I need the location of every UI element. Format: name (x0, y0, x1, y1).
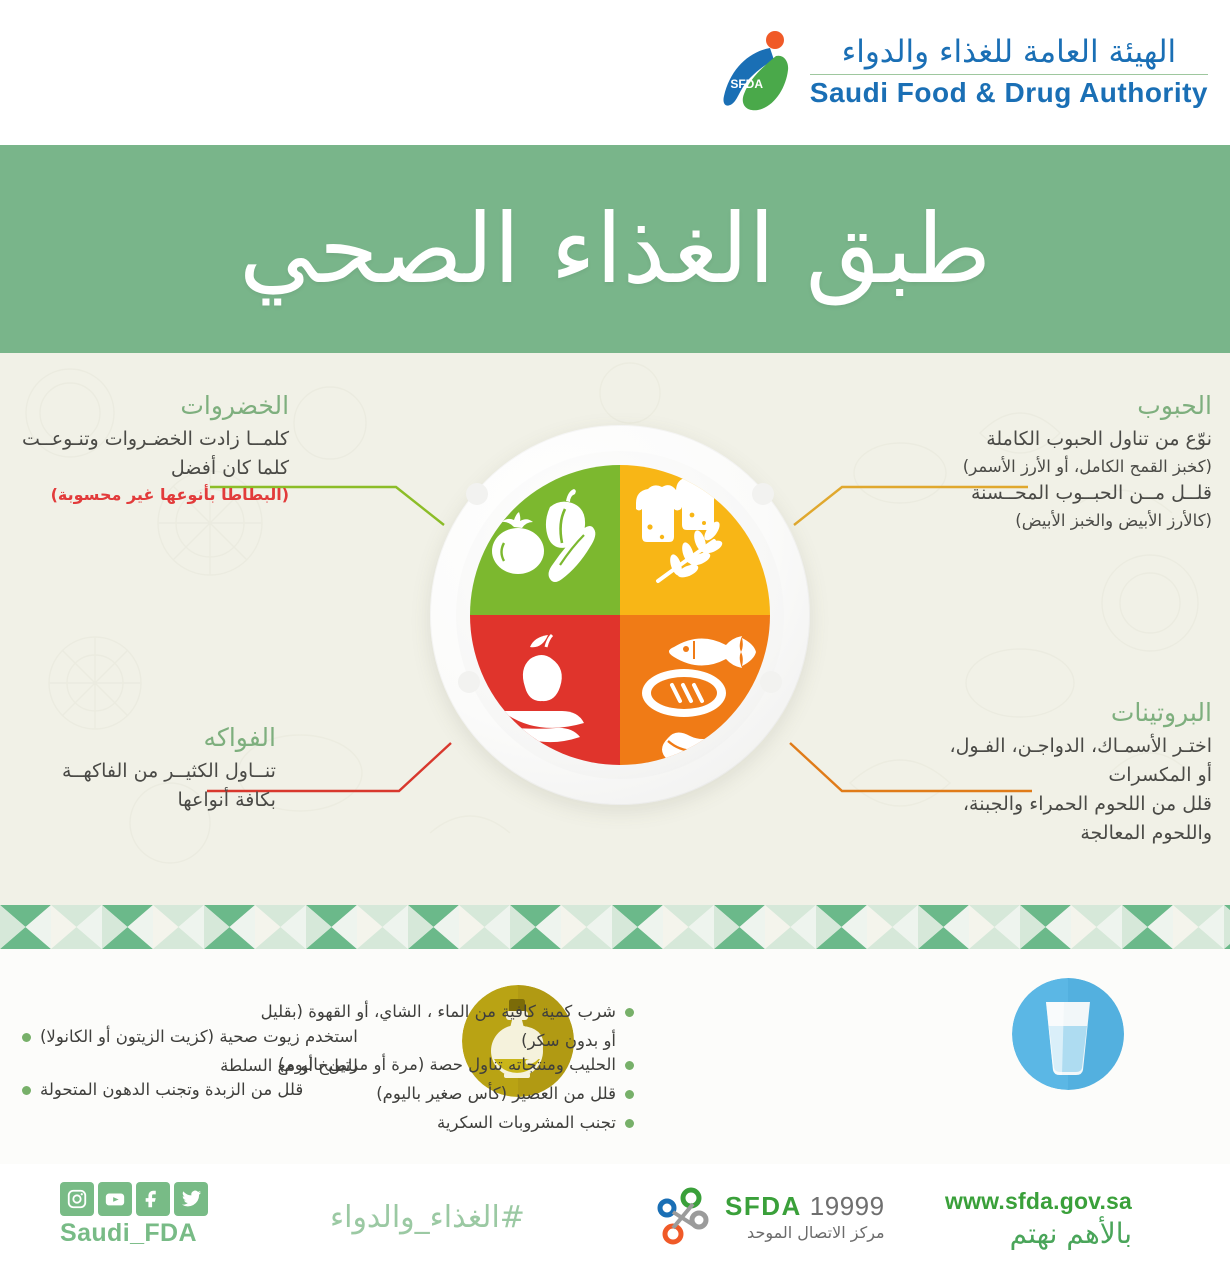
call-center-block: SFDA 19999 مركز الاتصال الموحد (655, 1186, 885, 1246)
beverage-tip-3: قلل من العصير (كأس صغير باليوم) (376, 1082, 616, 1106)
section-grains: الحبوب نوّع من تناول الحبوب الكاملة (كخب… (963, 391, 1212, 533)
list-item: قلل من الزبدة وتجنب الدهون المتحولة (22, 1078, 358, 1102)
section-vegetables-warning: (البطاطا بأنوعها غير محسوبة) (22, 483, 289, 507)
list-item: استخدم زيوت صحية (كزيت الزيتون أو الكانو… (22, 1025, 358, 1049)
youtube-icon[interactable] (98, 1182, 132, 1216)
plate-tab (466, 483, 488, 505)
website-block: www.sfda.gov.sa بالأهم نهتم (945, 1188, 1132, 1250)
call-center-number: 19999 (810, 1191, 885, 1222)
section-proteins: البروتينات اختـر الأسمـاك، الدواجـن، الف… (950, 698, 1213, 848)
sfda-knot-logo-icon (655, 1186, 715, 1246)
sfda-runner-logo-icon: SFDA (704, 26, 796, 118)
section-fruits-heading: الفواكه (62, 723, 276, 753)
twitter-icon[interactable] (174, 1182, 208, 1216)
social-block: Saudi_FDA (60, 1182, 208, 1248)
section-fruits-line-1: تنــاول الكثيــر من الفاكهــة (62, 757, 276, 786)
logo-text-block: الهيئة العامة للغذاء والدواء Saudi Food … (810, 35, 1208, 109)
call-center-line-1: SFDA 19999 (725, 1191, 885, 1222)
section-proteins-line-2: أو المكسرات (950, 761, 1213, 790)
plate-food-area (470, 465, 770, 765)
steak-icon (642, 669, 726, 717)
sfda-logo: الهيئة العامة للغذاء والدواء Saudi Food … (704, 26, 1208, 118)
section-vegetables-heading: الخضروات (22, 391, 289, 421)
oil-tip-1: استخدم زيوت صحية (كزيت الزيتون أو الكانو… (40, 1025, 358, 1049)
call-center-text: SFDA 19999 مركز الاتصال الموحد (725, 1191, 885, 1242)
tomato-icon (492, 512, 544, 574)
social-handle: Saudi_FDA (60, 1219, 208, 1248)
plate-quadrant-proteins (620, 615, 770, 765)
section-fruits: الفواكه تنــاول الكثيــر من الفاكهــة بك… (62, 723, 276, 815)
website-url[interactable]: www.sfda.gov.sa (945, 1188, 1132, 1215)
oil-tip-2: قلل من الزبدة وتجنب الدهون المتحولة (40, 1078, 303, 1102)
healthy-plate-graphic (430, 425, 810, 805)
plate-quadrant-grains (620, 465, 770, 615)
beverage-tip-1: شرب كمية كافية من الماء ، الشاي، أو القه… (261, 1000, 616, 1024)
list-item: شرب كمية كافية من الماء ، الشاي، أو القه… (261, 1000, 634, 1024)
bullet-dot-icon (625, 1090, 634, 1099)
water-glass-icon (1012, 978, 1124, 1090)
section-grains-line-1: نوّع من تناول الحبوب الكاملة (963, 425, 1212, 454)
bullet-dot-icon (22, 1086, 31, 1095)
section-proteins-line-3: قلل من اللحوم الحمراء والجبنة، (950, 790, 1213, 819)
social-icons (60, 1182, 208, 1216)
proteins-icons (620, 615, 770, 765)
beverage-tip-4: تجنب المشروبات السكرية (437, 1111, 616, 1135)
instagram-icon[interactable] (60, 1182, 94, 1216)
oil-tip-1-continued: للطبخ أو مع السلطة (22, 1054, 358, 1078)
section-grains-line-3: قلــل مــن الحبــوب المحــسنة (963, 479, 1212, 508)
plate-tab (760, 671, 782, 693)
bullet-dot-icon (625, 1008, 634, 1017)
section-grains-line-2: (كخبز القمح الكامل، أو الأرز الأسمر) (963, 454, 1212, 479)
logo-mark-label: SFDA (730, 77, 763, 91)
logo-divider (810, 74, 1208, 75)
apple-icon (523, 635, 562, 701)
chicken-drumstick-icon (662, 714, 746, 765)
page-footer: Saudi_FDA #الغذاء_والدواء SFDA 19999 مرك… (0, 1164, 1230, 1280)
section-fruits-line-2: بكافة أنواعها (62, 786, 276, 815)
banana-icon (500, 711, 584, 742)
section-grains-heading: الحبوب (963, 391, 1212, 421)
campaign-hashtag: #الغذاء_والدواء (330, 1200, 525, 1235)
call-center-brand: SFDA (725, 1191, 802, 1222)
bullet-dot-icon (625, 1119, 634, 1128)
section-proteins-line-4: واللحوم المعالجة (950, 819, 1213, 848)
main-panel: الحبوب نوّع من تناول الحبوب الكاملة (كخب… (0, 353, 1230, 905)
call-center-label: مركز الاتصال الموحد (725, 1223, 885, 1242)
section-proteins-heading: البروتينات (950, 698, 1213, 728)
fish-icon (669, 636, 756, 668)
page-title: طبق الغذاء الصحي (239, 201, 991, 297)
slogan: بالأهم نهتم (945, 1217, 1132, 1250)
plate-quadrant-vegetables (470, 465, 620, 615)
bullet-dot-icon (625, 1061, 634, 1070)
page-header: الهيئة العامة للغذاء والدواء Saudi Food … (0, 0, 1230, 145)
decorative-zigzag-band (0, 905, 1230, 949)
infographic-page: الهيئة العامة للغذاء والدواء Saudi Food … (0, 0, 1230, 1280)
section-vegetables: الخضروات كلمــا زادت الخضـروات وتنـوعــت… (22, 391, 289, 507)
section-grains-line-4: (كالأرز الأبيض والخبز الأبيض) (963, 508, 1212, 533)
vegetables-icons (470, 465, 620, 615)
list-item: تجنب المشروبات السكرية (261, 1111, 634, 1135)
water-icon-badge (1012, 978, 1124, 1090)
plate-quadrant-fruits (470, 615, 620, 765)
facebook-icon[interactable] (136, 1182, 170, 1216)
oil-tips-list: استخدم زيوت صحية (كزيت الزيتون أو الكانو… (22, 1025, 358, 1107)
title-banner: طبق الغذاء الصحي (0, 145, 1230, 353)
logo-arabic-name: الهيئة العامة للغذاء والدواء (810, 35, 1208, 71)
section-vegetables-line-2: كلما كان أفضل (22, 454, 289, 483)
grains-icons (620, 465, 770, 615)
plate-tab (458, 671, 480, 693)
logo-english-name: Saudi Food & Drug Authority (810, 77, 1208, 109)
section-proteins-line-1: اختـر الأسمـاك، الدواجـن، الفـول، (950, 732, 1213, 761)
plate-tab (752, 483, 774, 505)
bread-slice-icon (676, 473, 724, 530)
zigzag-pattern (0, 905, 1230, 949)
section-vegetables-line-1: كلمــا زادت الخضـروات وتنـوعــت (22, 425, 289, 454)
bullet-dot-icon (22, 1033, 31, 1042)
fruits-icons (470, 615, 620, 765)
